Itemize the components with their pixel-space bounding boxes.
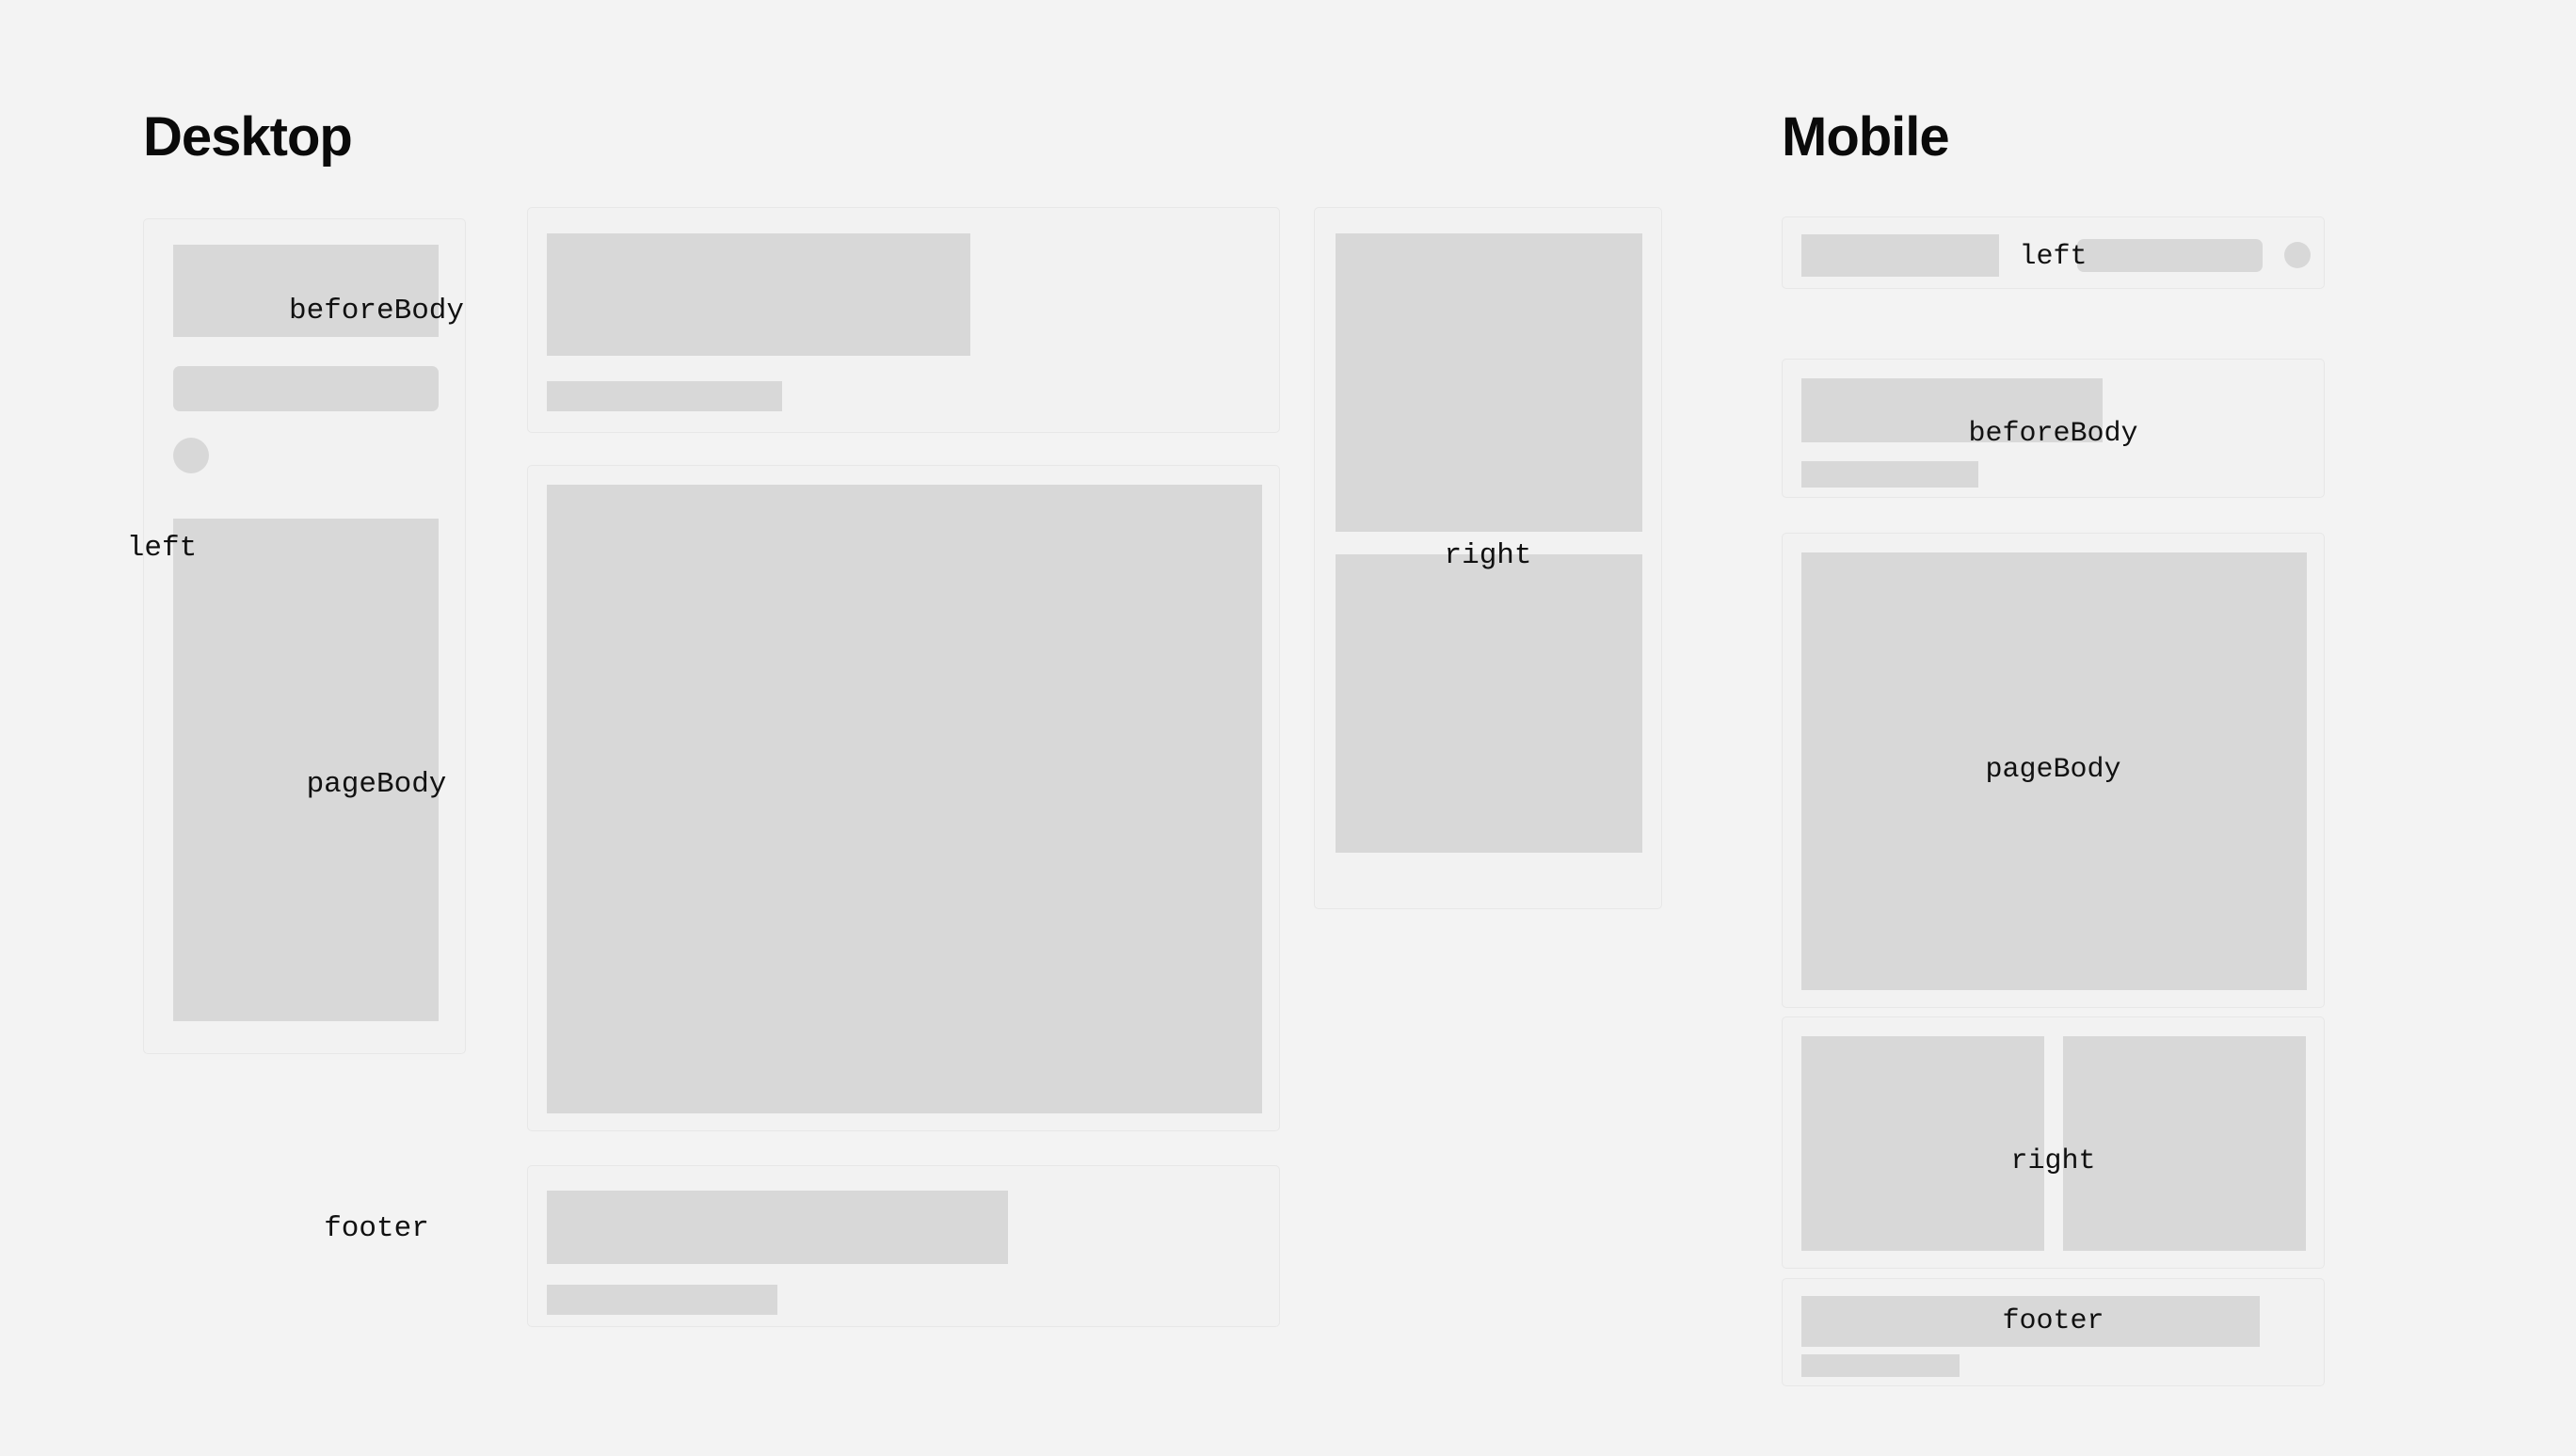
placeholder-block-bar-rounded: [2077, 239, 2263, 272]
placeholder-block-bar-small: [547, 381, 782, 411]
placeholder-block-rect-right: [2063, 1036, 2306, 1251]
placeholder-block-rect-bottom: [1336, 554, 1642, 853]
desktop-section-title: Desktop: [143, 110, 352, 165]
desktop-footer-panel[interactable]: [527, 1165, 1280, 1327]
desktop-beforebody-panel[interactable]: [527, 207, 1280, 433]
placeholder-block-dot: [173, 438, 209, 473]
placeholder-block-rect-large: [173, 245, 439, 337]
mobile-right-panel[interactable]: [1782, 1016, 2325, 1269]
placeholder-block-rect-top: [1336, 233, 1642, 532]
placeholder-block-rect: [1801, 234, 1999, 277]
mobile-left-panel[interactable]: [1782, 216, 2325, 289]
desktop-right-panel[interactable]: [1314, 207, 1662, 909]
placeholder-block-rect-wide: [547, 1191, 1008, 1264]
placeholder-block-bar-small: [1801, 461, 1978, 488]
placeholder-block-rect-tall: [173, 519, 439, 1021]
placeholder-block-bar-small: [1801, 1354, 1960, 1377]
placeholder-block-dot: [2284, 242, 2311, 268]
mobile-beforebody-panel[interactable]: [1782, 359, 2325, 498]
placeholder-block-rect-wide: [1801, 1296, 2260, 1347]
placeholder-block-rect-left: [1801, 1036, 2044, 1251]
placeholder-block-rect-wide: [547, 233, 970, 356]
placeholder-block-rect-fill: [1801, 552, 2307, 990]
desktop-pagebody-panel[interactable]: [527, 465, 1280, 1131]
desktop-left-panel[interactable]: [143, 218, 466, 1054]
mobile-pagebody-panel[interactable]: [1782, 533, 2325, 1008]
placeholder-block-bar-small: [547, 1285, 777, 1315]
mobile-footer-panel[interactable]: [1782, 1278, 2325, 1386]
mobile-section-title: Mobile: [1782, 110, 1949, 165]
placeholder-block-rect-wide: [1801, 378, 2103, 442]
placeholder-block-rect-fill: [547, 485, 1262, 1113]
placeholder-block-bar-rounded: [173, 366, 439, 411]
